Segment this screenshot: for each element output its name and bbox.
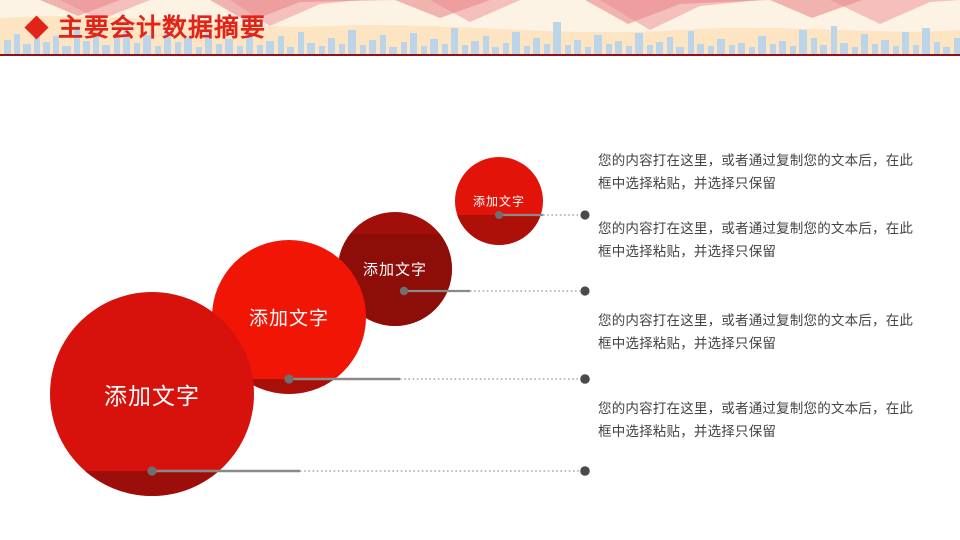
connector-end-dot <box>580 286 589 295</box>
page-title: 主要会计数据摘要 <box>58 15 266 40</box>
page-title-group: 主要会计数据摘要 <box>28 8 266 46</box>
connector-origin-dot <box>400 287 408 295</box>
connector-end-dot <box>580 374 590 384</box>
diamond-icon <box>24 15 48 39</box>
callout-2-text: 您的内容打在这里，或者通过复制您的文本后，在此框中选择粘贴，并选择只保留 <box>598 218 918 264</box>
connector-origin-dot <box>147 466 156 475</box>
slide-header: 主要会计数据摘要 <box>0 0 960 56</box>
callout-4-text: 您的内容打在这里，或者通过复制您的文本后，在此框中选择粘贴，并选择只保留 <box>598 398 918 444</box>
callout-1-text: 您的内容打在这里，或者通过复制您的文本后，在此框中选择粘贴，并选择只保留 <box>598 150 918 196</box>
connector-origin-dot <box>495 211 503 219</box>
diagram-stage: 添加文字 添加文字 添加文字 添加文字 您的内容打在这里，或者通过复制您的文本后… <box>0 56 960 540</box>
callout-3-text: 您的内容打在这里，或者通过复制您的文本后，在此框中选择粘贴，并选择只保留 <box>598 310 918 356</box>
slide-canvas: 主要会计数据摘要 <box>0 0 960 540</box>
connector-end-dot <box>580 466 590 476</box>
connector-origin-dot <box>284 374 293 383</box>
circles-graphic <box>0 56 960 540</box>
connector-end-dot <box>580 210 589 219</box>
circle-4[interactable] <box>440 157 570 325</box>
